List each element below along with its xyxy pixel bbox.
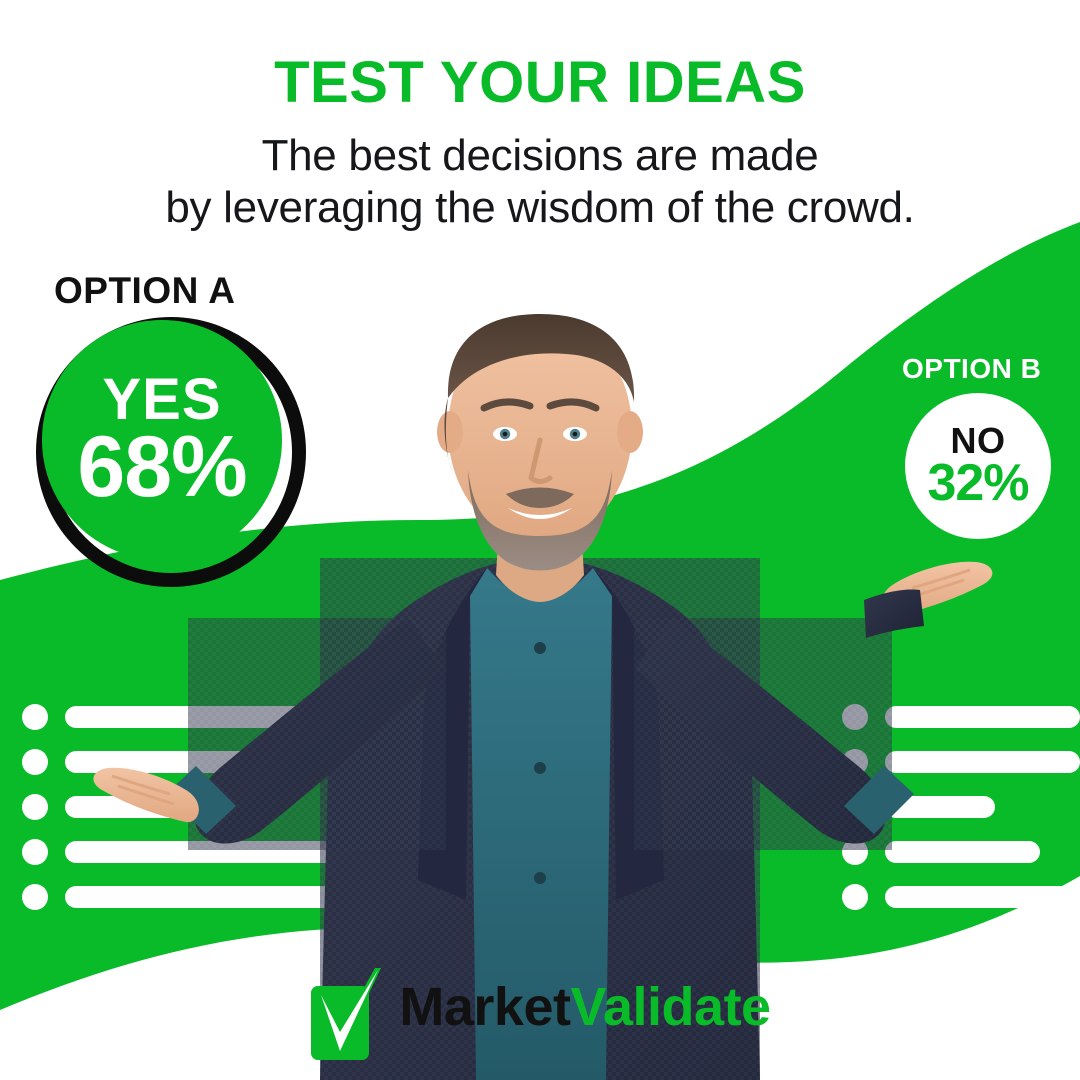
placeholder-bar — [885, 706, 1080, 728]
list-item — [842, 884, 1080, 910]
bullet-dot-icon — [842, 884, 868, 910]
page-subtitle: The best decisions are made by leveragin… — [0, 112, 1080, 234]
placeholder-bar — [65, 706, 395, 728]
bullet-dot-icon — [22, 884, 48, 910]
list-item — [22, 884, 395, 910]
list-item — [22, 839, 395, 865]
bullet-dot-icon — [842, 749, 868, 775]
bullet-dot-icon — [22, 704, 48, 730]
placeholder-bar — [885, 886, 1080, 908]
option-a-text: YES 68% — [42, 320, 282, 560]
subtitle-line-1: The best decisions are made — [262, 131, 819, 180]
promo-graphic-canvas: TEST YOUR IDEAS The best decisions are m… — [0, 0, 1080, 1080]
bullet-dot-icon — [842, 704, 868, 730]
option-b-circle[interactable]: NO 32% — [905, 393, 1051, 539]
bullet-dot-icon — [22, 839, 48, 865]
placeholder-bar — [65, 751, 395, 773]
option-a-answer: YES — [102, 373, 221, 426]
placeholder-bar — [65, 841, 395, 863]
decorative-list-left — [22, 704, 395, 929]
option-a-percent: 68% — [77, 428, 246, 507]
option-b-label: OPTION B — [902, 355, 1080, 383]
brand-word-validate: Validate — [570, 977, 770, 1037]
list-item — [842, 839, 1080, 865]
headline-block: TEST YOUR IDEAS The best decisions are m… — [0, 0, 1080, 234]
bullet-dot-icon — [842, 839, 868, 865]
subtitle-line-2: by leveraging the wisdom of the crowd. — [0, 182, 1080, 234]
placeholder-bar — [65, 886, 353, 908]
bullet-dot-icon — [22, 794, 48, 820]
check-badge-icon — [309, 968, 383, 1046]
list-item — [842, 794, 1080, 820]
option-b-percent: 32% — [927, 459, 1028, 508]
list-item — [842, 704, 1080, 730]
option-a-label: OPTION A — [54, 272, 314, 309]
placeholder-bar — [885, 841, 1040, 863]
bullet-dot-icon — [22, 749, 48, 775]
list-item — [22, 749, 395, 775]
option-a-circle[interactable]: YES 68% — [36, 317, 306, 587]
decorative-list-right — [842, 704, 1080, 929]
bullet-dot-icon — [842, 794, 868, 820]
option-b-answer: NO — [951, 424, 1006, 458]
brand-wordmark: MarketValidate — [399, 980, 770, 1034]
option-a-group[interactable]: OPTION A YES 68% — [14, 272, 314, 587]
page-title: TEST YOUR IDEAS — [0, 0, 1080, 112]
brand-word-market: Market — [399, 977, 570, 1037]
list-item — [842, 749, 1080, 775]
placeholder-bar — [885, 751, 1080, 773]
list-item — [22, 794, 395, 820]
brand-logo[interactable]: MarketValidate — [0, 968, 1080, 1046]
option-b-group[interactable]: OPTION B NO 32% — [880, 355, 1080, 539]
list-item — [22, 704, 395, 730]
placeholder-bar — [65, 796, 215, 818]
placeholder-bar — [885, 796, 995, 818]
